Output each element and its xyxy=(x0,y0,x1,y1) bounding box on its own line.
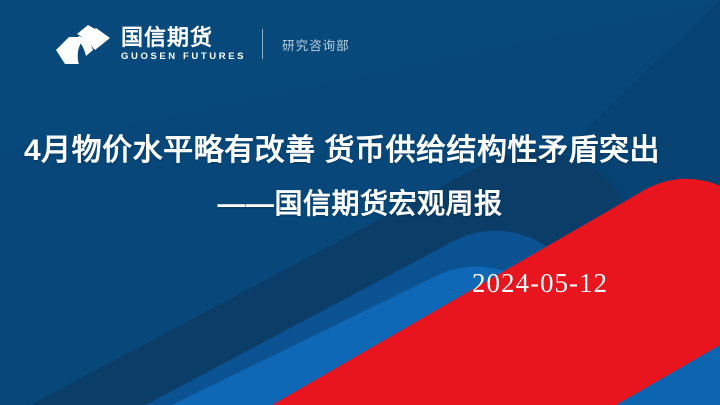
page-title: 4月物价水平略有改善 货币供给结构性矛盾突出 xyxy=(24,125,698,169)
guosen-futures-logo-mark-icon xyxy=(55,22,111,66)
report-cover-slide: 国信期货 GUOSEN FUTURES 研究咨询部 4月物价水平略有改善 货币供… xyxy=(0,0,720,405)
department-label: 研究咨询部 xyxy=(282,35,350,54)
cover-date: 2024-05-12 xyxy=(430,268,650,299)
page-subtitle: ——国信期货宏观周报 xyxy=(0,182,720,222)
brand-divider xyxy=(262,29,263,59)
brand-wordmark: 国信期货 GUOSEN FUTURES xyxy=(121,27,246,62)
company-name-cn: 国信期货 xyxy=(121,27,246,49)
brand-lockup: 国信期货 GUOSEN FUTURES 研究咨询部 xyxy=(55,20,350,68)
company-name-en: GUOSEN FUTURES xyxy=(121,52,246,62)
